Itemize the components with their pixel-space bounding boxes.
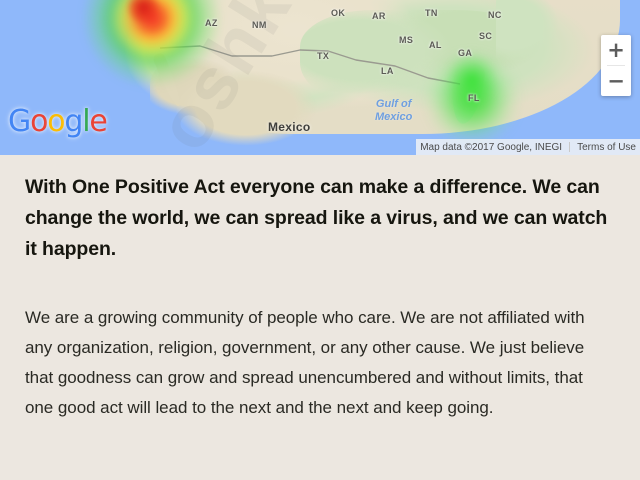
body-paragraph: We are a growing community of people who… xyxy=(25,303,615,423)
map-label-tn: TN xyxy=(425,8,438,18)
map-label-ms: MS xyxy=(399,35,413,45)
google-logo-g2: g xyxy=(64,104,82,139)
google-logo[interactable]: Google xyxy=(8,107,107,137)
map-data-attribution: Map data ©2017 Google, INEGI xyxy=(420,142,562,153)
headline-text: With One Positive Act everyone can make … xyxy=(25,172,610,265)
map-label-gulf-of-mexico: Gulf of Mexico xyxy=(375,98,412,124)
gulf-label-line1: Gulf of xyxy=(376,98,411,110)
map-label-la: LA xyxy=(381,66,394,76)
google-logo-e: e xyxy=(89,104,106,139)
google-map[interactable]: AZ NM OK AR TN NC MS AL SC GA TX LA FL M… xyxy=(0,0,640,155)
google-logo-g1: G xyxy=(8,104,30,139)
map-land-east-coast xyxy=(496,0,616,72)
map-label-nm: NM xyxy=(252,20,267,30)
map-label-fl: FL xyxy=(468,93,480,103)
google-logo-o1: o xyxy=(30,104,47,139)
map-attribution-bar: Map data ©2017 Google, INEGI Terms of Us… xyxy=(416,139,640,155)
map-label-ga: GA xyxy=(458,48,472,58)
page-root: AZ NM OK AR TN NC MS AL SC GA TX LA FL M… xyxy=(0,0,640,480)
attribution-divider xyxy=(569,142,570,152)
map-zoom-controls[interactable]: + − xyxy=(601,35,631,96)
map-label-ok: OK xyxy=(331,8,345,18)
map-label-tx: TX xyxy=(317,51,329,61)
zoom-out-button[interactable]: − xyxy=(601,66,631,96)
google-logo-o2: o xyxy=(47,104,64,139)
map-label-sc: SC xyxy=(479,31,492,41)
map-label-az: AZ xyxy=(205,18,218,28)
gulf-label-line2: Mexico xyxy=(375,111,412,123)
map-label-al: AL xyxy=(429,40,442,50)
terms-of-use-link[interactable]: Terms of Use xyxy=(577,142,636,153)
zoom-in-button[interactable]: + xyxy=(601,35,631,65)
map-label-mexico: Mexico xyxy=(268,120,310,134)
content-area: With One Positive Act everyone can make … xyxy=(0,155,640,480)
map-border-line xyxy=(160,40,460,90)
map-label-nc: NC xyxy=(488,10,502,20)
map-label-ar: AR xyxy=(372,11,386,21)
